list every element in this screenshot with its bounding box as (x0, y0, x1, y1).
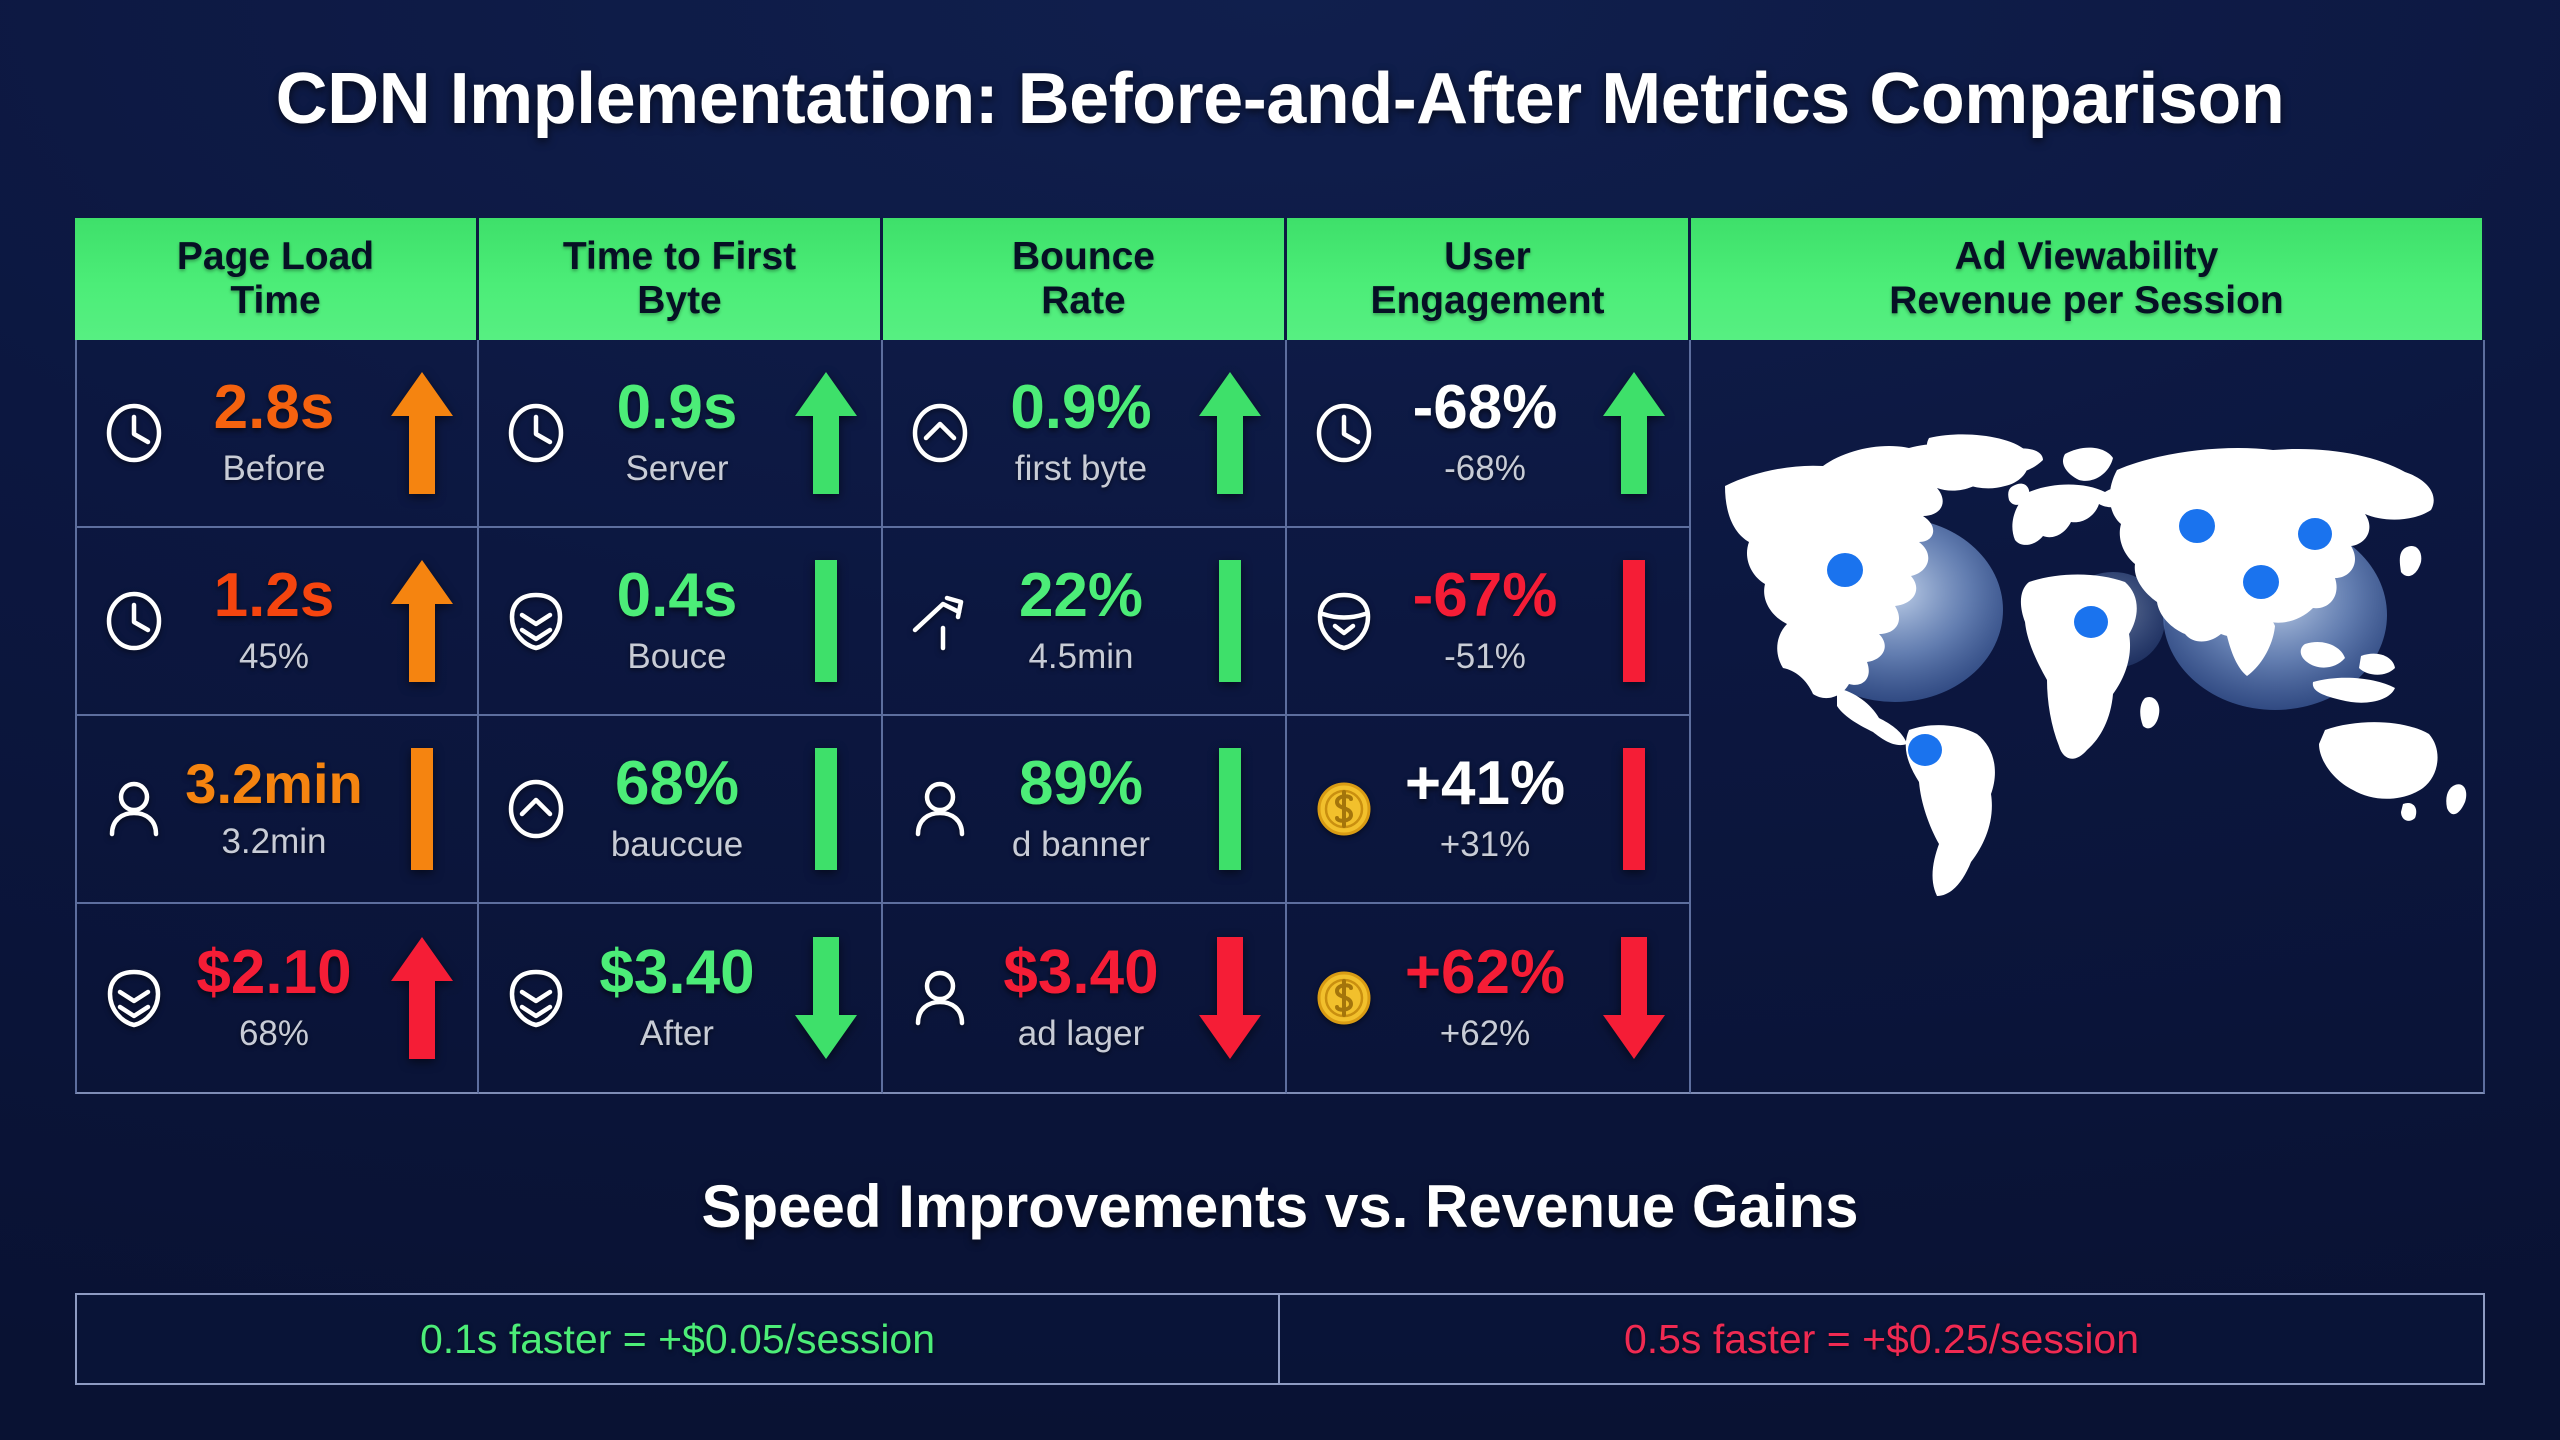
trend-arrow-up-icon (1595, 368, 1673, 498)
person-icon (99, 778, 169, 840)
trending-up-icon (905, 590, 975, 652)
metric-sublabel: first byte (1015, 449, 1147, 489)
trend-bar-icon (383, 744, 461, 874)
metric-cell: 0.9% first byte (883, 340, 1287, 528)
metric-value: -68% (1413, 377, 1558, 439)
metric-sublabel: bauccue (611, 825, 743, 865)
clock-icon (99, 590, 169, 652)
metric-cell: -67% -51% (1287, 528, 1691, 716)
metric-cell: 3.2min 3.2min (75, 716, 479, 904)
metric-values: 2.8s Before (165, 377, 383, 489)
metric-value: 2.8s (214, 377, 335, 439)
metric-cell: 0.9s Server (479, 340, 883, 528)
metric-value: +62% (1405, 942, 1565, 1004)
header-line1: Time to First (563, 235, 796, 279)
metric-sublabel: 45% (239, 637, 309, 677)
world-map-svg (1713, 430, 2473, 900)
table-header-page-load-time: Page Load Time (75, 218, 479, 340)
metric-values: +41% +31% (1375, 753, 1595, 865)
summary-footer: 0.1s faster = +$0.05/session 0.5s faster… (75, 1293, 2485, 1385)
metric-cell: 2.8s Before (75, 340, 479, 528)
metric-cell: +41% +31% (1287, 716, 1691, 904)
metric-sublabel: Server (625, 449, 728, 489)
world-coverage-map-cell (1691, 340, 2485, 1094)
metric-values: 0.9s Server (567, 377, 787, 489)
trend-bar-icon (1595, 744, 1673, 874)
metric-cell: 1.2s 45% (75, 528, 479, 716)
metric-value: 3.2min (185, 756, 362, 812)
metric-value: 0.4s (617, 565, 738, 627)
trend-arrow-up-icon (1191, 368, 1269, 498)
metric-values: 22% 4.5min (971, 565, 1191, 677)
footer-revenue-gain: 0.5s faster = +$0.25/session (1280, 1295, 2483, 1383)
header-line2: Rate (1012, 279, 1155, 323)
metric-values: $2.10 68% (165, 942, 383, 1054)
header-line2: Revenue per Session (1889, 279, 2284, 323)
metric-sublabel: 4.5min (1028, 637, 1133, 677)
shield-chevron-icon (1309, 590, 1379, 652)
header-line2: Byte (563, 279, 796, 323)
trend-arrow-up-icon (383, 933, 461, 1063)
metric-sublabel: +62% (1440, 1014, 1531, 1054)
metric-sublabel: -51% (1444, 637, 1526, 677)
metric-cell: +62% +62% (1287, 904, 1691, 1094)
footer-right-text: 0.5s faster = +$0.25/session (1624, 1316, 2139, 1363)
coin-icon (1309, 968, 1379, 1028)
table-header-user-engagement: User Engagement (1287, 218, 1691, 340)
metric-sublabel: 68% (239, 1014, 309, 1054)
metric-sublabel: 3.2min (221, 822, 326, 862)
table-header-time-to-first-byte: Time to First Byte (479, 218, 883, 340)
trend-bar-icon (1191, 556, 1269, 686)
metric-sublabel: -68% (1444, 449, 1526, 489)
trend-arrow-up-icon (383, 368, 461, 498)
trend-arrow-down-icon (787, 933, 865, 1063)
metric-sublabel: After (640, 1014, 714, 1054)
metric-value: 22% (1019, 565, 1143, 627)
header-line2: Time (177, 279, 374, 323)
metric-value: $2.10 (196, 942, 351, 1004)
metric-value: 0.9s (617, 377, 738, 439)
metric-cell: $3.40 ad lager (883, 904, 1287, 1094)
header-line1: Bounce (1012, 235, 1155, 279)
metric-cell: 89% d banner (883, 716, 1287, 904)
metric-values: 89% d banner (971, 753, 1191, 865)
trend-arrow-up-icon (383, 556, 461, 686)
shield-chevrons-icon (99, 967, 169, 1029)
coin-icon (1309, 779, 1379, 839)
table-header-ad-viewability: Ad Viewability Revenue per Session (1691, 218, 2485, 340)
clock-icon (1309, 402, 1379, 464)
metric-cell: $3.40 After (479, 904, 883, 1094)
metric-value: -67% (1413, 565, 1558, 627)
metric-value: +41% (1405, 753, 1565, 815)
metric-sublabel: Bouce (627, 637, 726, 677)
metric-values: -67% -51% (1375, 565, 1595, 677)
metric-value: 68% (615, 753, 739, 815)
shield-chevrons-icon (501, 590, 571, 652)
metric-values: $3.40 ad lager (971, 942, 1191, 1054)
person-icon (905, 778, 975, 840)
trend-bar-icon (787, 744, 865, 874)
footer-speed-gain: 0.1s faster = +$0.05/session (77, 1295, 1280, 1383)
header-line1: User (1370, 235, 1604, 279)
header-line1: Ad Viewability (1889, 235, 2284, 279)
metric-values: 1.2s 45% (165, 565, 383, 677)
clock-icon (99, 402, 169, 464)
chevron-up-circle-icon (501, 778, 571, 840)
trend-arrow-down-icon (1191, 933, 1269, 1063)
metric-values: 0.9% first byte (971, 377, 1191, 489)
metric-cell: 68% bauccue (479, 716, 883, 904)
header-line2: Engagement (1370, 279, 1604, 323)
footer-left-text: 0.1s faster = +$0.05/session (420, 1316, 935, 1363)
metric-value: $3.40 (1003, 942, 1158, 1004)
metric-value: 1.2s (214, 565, 335, 627)
metric-value: 0.9% (1010, 377, 1151, 439)
metric-value: $3.40 (599, 942, 754, 1004)
trend-arrow-down-icon (1595, 933, 1673, 1063)
section-subtitle: Speed Improvements vs. Revenue Gains (0, 1172, 2560, 1241)
metric-values: -68% -68% (1375, 377, 1595, 489)
table-header-bounce-rate: Bounce Rate (883, 218, 1287, 340)
infographic-root: CDN Implementation: Before-and-After Met… (0, 0, 2560, 1440)
metric-sublabel: +31% (1440, 825, 1531, 865)
metric-value: 89% (1019, 753, 1143, 815)
metric-values: 3.2min 3.2min (165, 756, 383, 862)
metric-sublabel: d banner (1012, 825, 1150, 865)
metric-cell: 0.4s Bouce (479, 528, 883, 716)
trend-arrow-up-icon (787, 368, 865, 498)
metric-values: +62% +62% (1375, 942, 1595, 1054)
header-line1: Page Load (177, 235, 374, 279)
shield-chevrons-icon (501, 967, 571, 1029)
metric-values: 68% bauccue (567, 753, 787, 865)
metric-cell: 22% 4.5min (883, 528, 1287, 716)
metric-cell: $2.10 68% (75, 904, 479, 1094)
trend-bar-icon (787, 556, 865, 686)
metric-values: 0.4s Bouce (567, 565, 787, 677)
clock-icon (501, 402, 571, 464)
metric-sublabel: Before (222, 449, 325, 489)
page-title: CDN Implementation: Before-and-After Met… (0, 58, 2560, 140)
trend-bar-icon (1191, 744, 1269, 874)
metric-sublabel: ad lager (1018, 1014, 1144, 1054)
person-icon (905, 967, 975, 1029)
trend-bar-icon (1595, 556, 1673, 686)
metric-values: $3.40 After (567, 942, 787, 1054)
metric-cell: -68% -68% (1287, 340, 1691, 528)
metrics-table: Page Load Time Time to First Byte Bounce… (75, 218, 2485, 1138)
chevron-up-circle-icon (905, 402, 975, 464)
